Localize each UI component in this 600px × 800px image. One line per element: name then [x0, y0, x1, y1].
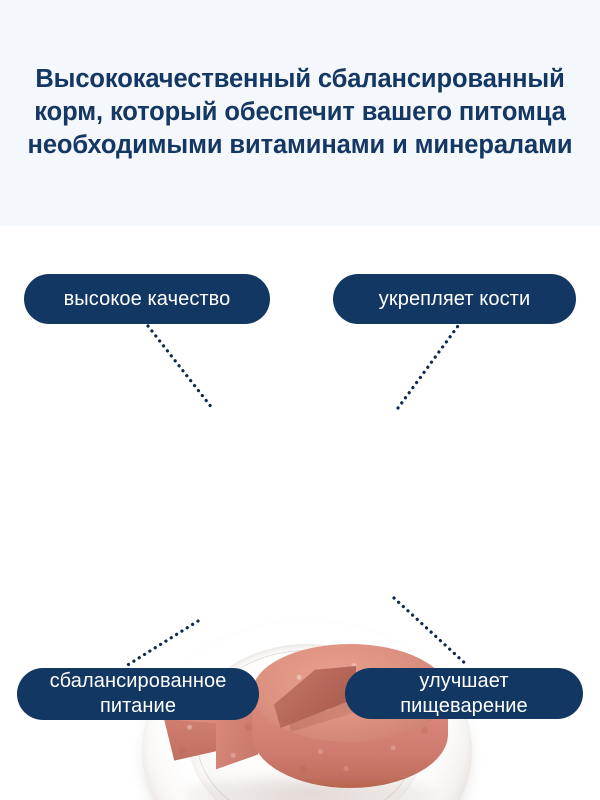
- badge-balanced-nutrition[interactable]: сбалансированное питание: [17, 668, 259, 720]
- badge-improves-digestion[interactable]: улучшает пищеварение: [345, 668, 583, 719]
- badge-high-quality[interactable]: высокое качество: [24, 274, 270, 324]
- headline-panel: Высококачественный сбалансированный корм…: [0, 0, 600, 226]
- infographic-canvas: Высококачественный сбалансированный корм…: [0, 0, 600, 800]
- badge-strengthens-bones[interactable]: укрепляет кости: [333, 274, 576, 324]
- page-title: Высококачественный сбалансированный корм…: [0, 63, 600, 162]
